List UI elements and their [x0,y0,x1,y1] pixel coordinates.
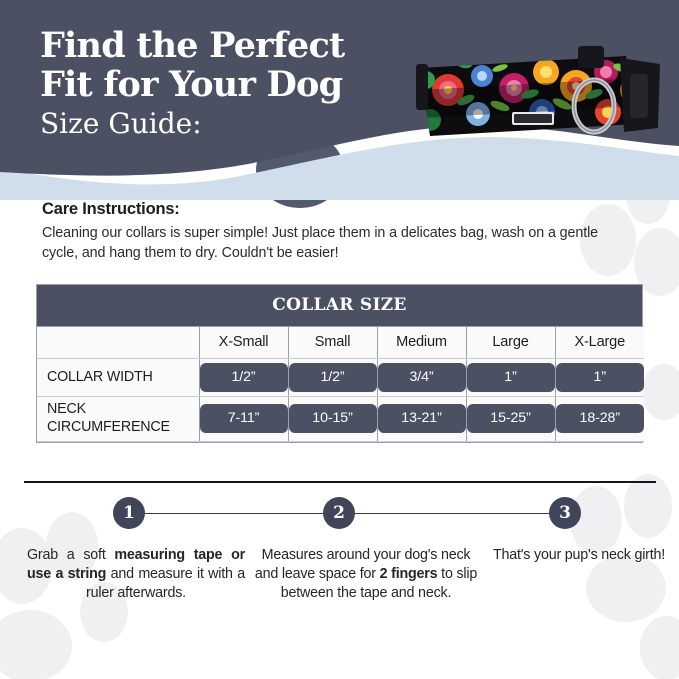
cell-neck-circumference-medium: 13-21” [377,397,466,442]
value-pill: 1/2” [200,363,288,392]
step-descriptions: Grab a soft measuring tape or use a stri… [0,546,679,603]
row-label-collar-width: COLLAR WIDTH [37,365,199,391]
cell-collar-width-x-small: 1/2” [199,359,288,397]
value-pill: 1/2” [289,363,377,392]
step-3-text-part-1: That's your pup's neck girth! [493,547,665,563]
column-header-small: Small [288,327,377,359]
column-header-x-small: X-Small [199,327,288,359]
cell-neck-circumference-small: 10-15” [288,397,377,442]
section-divider [24,481,656,483]
table-row-neck-circumference: NECK CIRCUMFERENCE 7-11” 10-15” 13-21” [37,397,644,442]
step-description-2: Measures around your dog's neck and leav… [253,546,479,603]
cell-collar-width-small: 1/2” [288,359,377,397]
value-pill: 3/4” [378,363,466,392]
cell-neck-circumference-x-large: 18-28” [555,397,644,442]
table-header-row: X-Small Small Medium Large X-Large [37,327,644,359]
row-label-cell-neck-circumference: NECK CIRCUMFERENCE [37,397,199,442]
row-label-line-1: NECK [47,401,191,419]
row-label-cell-collar-width: COLLAR WIDTH [37,359,199,397]
value-pill: 18-28” [556,404,645,433]
value-pill: 1” [467,363,555,392]
column-header-large: Large [466,327,555,359]
column-header-x-large: X-Large [555,327,644,359]
header-subtitle: Size Guide: [40,106,420,142]
column-header-medium: Medium [377,327,466,359]
value-pill: 15-25” [467,404,555,433]
value-pill: 7-11” [200,404,288,433]
cell-collar-width-x-large: 1” [555,359,644,397]
care-instructions-title: Care Instructions: [42,200,642,219]
step-markers: 1 2 3 [0,496,679,532]
cell-collar-width-large: 1” [466,359,555,397]
value-pill: 10-15” [289,404,377,433]
care-instructions-section: Care Instructions: Cleaning our collars … [42,200,642,264]
table-row-collar-width: COLLAR WIDTH 1/2” 1/2” 3/4” 1” [37,359,644,397]
measuring-steps-section: 1 2 3 Grab a soft measuring tape or use … [0,496,679,676]
step-1-text-part-2: and measure it with a ruler afterwards. [86,566,245,601]
step-marker-1: 1 [113,497,145,529]
header-title-line-2: Fit for Your Dog [40,65,420,104]
step-description-3: That's your pup's neck girth! [491,546,667,603]
size-guide-infographic: Find the Perfect Fit for Your Dog Size G… [0,0,679,679]
header-banner: Find the Perfect Fit for Your Dog Size G… [0,0,679,200]
row-label-line-2: CIRCUMFERENCE [47,419,191,437]
step-marker-3: 3 [549,497,581,529]
table-corner-cell [37,327,199,359]
cell-neck-circumference-x-small: 7-11” [199,397,288,442]
step-1-text-part-1: Grab a soft [27,547,114,563]
cell-neck-circumference-large: 15-25” [466,397,555,442]
care-instructions-body: Cleaning our collars is super simple! Ju… [42,223,607,264]
cell-collar-width-medium: 3/4” [377,359,466,397]
value-pill: 1” [556,363,645,392]
dog-collar-product-image [408,28,670,160]
header-title-line-1: Find the Perfect [40,26,420,65]
row-label-neck-circumference: NECK CIRCUMFERENCE [37,397,199,441]
collar-size-table: COLLAR SIZE X-Small Small Medium Large X… [36,284,643,443]
value-pill: 13-21” [378,404,466,433]
step-2-text-bold: 2 fingers [380,566,438,582]
step-marker-2: 2 [323,497,355,529]
table-title: COLLAR SIZE [37,285,642,327]
size-table-grid: X-Small Small Medium Large X-Large COLLA… [37,327,644,442]
header-text-block: Find the Perfect Fit for Your Dog Size G… [40,26,420,143]
step-description-1: Grab a soft measuring tape or use a stri… [27,546,245,603]
